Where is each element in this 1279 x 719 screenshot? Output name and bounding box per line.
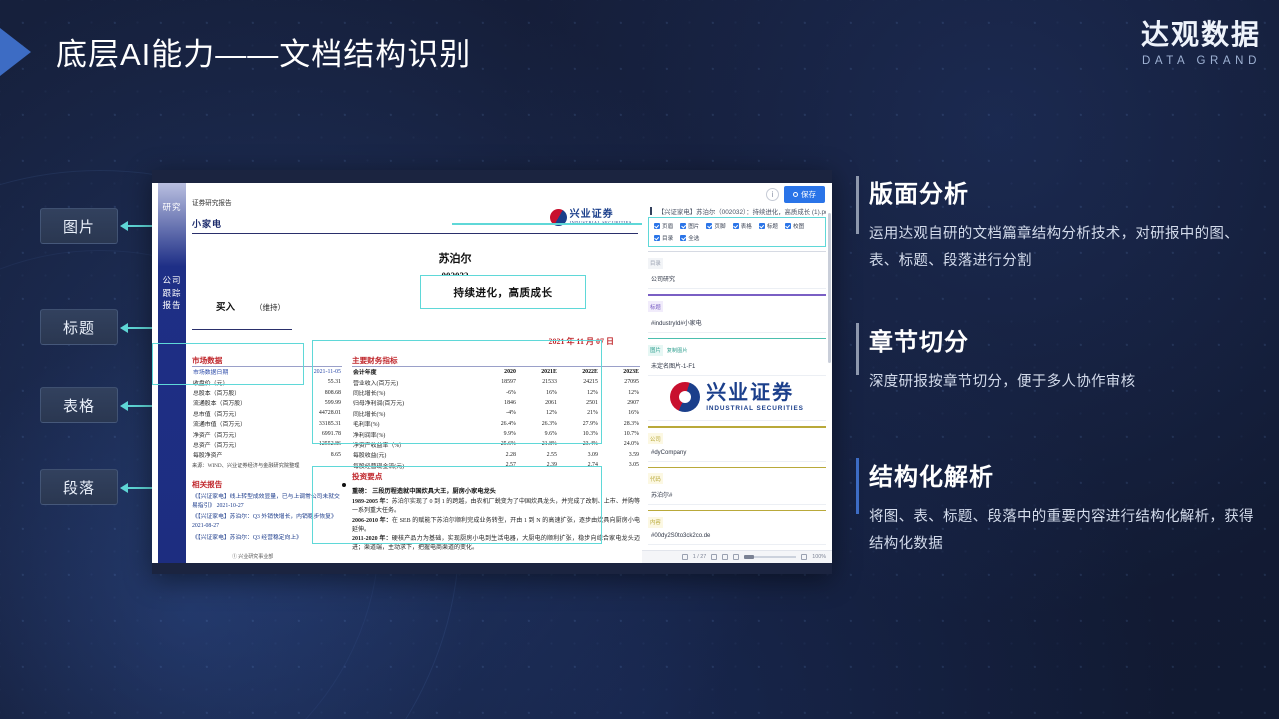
pdf-page-body: 证券研究报告 小家电 苏泊尔 002032 买入 （维持） 2021 年 11 … (192, 183, 638, 563)
feature-bar-2 (856, 323, 859, 375)
rotate-icon[interactable] (711, 554, 717, 560)
table-row: 总市值（百万元）44728.01 (192, 408, 342, 418)
cell-value: 12552.86 (290, 439, 342, 449)
section-label: 公司 (648, 433, 663, 444)
cell-value: 12% (517, 408, 558, 418)
filter-checkbox-label: 目录 (662, 234, 673, 242)
zoom-level-label: 100% (812, 554, 826, 560)
cell-value: 8.65 (290, 450, 342, 460)
product-screenshot: 研究 公司跟踪报告 证券研究报告 小家电 苏泊尔 002032 买入 （维持） … (152, 170, 832, 574)
callout-tag-image: 图片 (40, 208, 118, 244)
cell-label: 营业收入(百万元) (352, 377, 477, 387)
save-button-label: 保存 (801, 189, 816, 200)
pdf-report-type: 证券研究报告 (192, 197, 638, 207)
market-data-title: 市场数据 (192, 355, 342, 366)
table-row: 每股净资产8.65 (192, 450, 342, 460)
section-label: 标题 (648, 301, 663, 312)
section-value: #dyCompany (648, 446, 826, 462)
feature-desc-1: 运用达观自研的文档篇章结构分析技术，对研报中的图、表、标题、段落进行分割 (869, 221, 1259, 275)
cell-value: 3.05 (599, 460, 640, 470)
feature-bar-3 (856, 458, 859, 514)
pdf-divider-1 (192, 233, 638, 234)
table-row: 同比增长(%)-4%12%21%16% (352, 408, 640, 418)
table-row: 净资产（百万元）6991.78 (192, 429, 342, 439)
investment-lead: 重磅： 三段历程造就中国炊具大王，厨房小家电龙头 (352, 486, 640, 495)
checkbox-icon (680, 235, 686, 241)
structure-result-list: 目录公司研究标题#industryId#小家电图片复制图片未定名图片-1-F1兴… (648, 251, 826, 549)
filter-checkbox[interactable]: 图片 (680, 222, 699, 230)
paragraph-year-range: 2011-2020 年： (352, 536, 392, 542)
table-row: 同比增长(%)-6%16%12%12% (352, 387, 640, 397)
related-reports-block: 相关报告 《【兴证家电】线上转型成效显量，已与上调常公司未就交易指引》 2021… (192, 479, 342, 545)
pdf-rating-note: （维持） (255, 302, 285, 313)
paragraph-year-range: 1989-2005 年： (352, 499, 392, 505)
investment-bullet-icon (342, 483, 346, 487)
cell-value: 26.3% (517, 418, 558, 428)
cell-value: 44728.01 (290, 408, 342, 418)
cell-value: 2021-11-05 (290, 367, 342, 377)
section-value: 公司研究 (648, 270, 826, 289)
result-section[interactable]: 内容#00dy2S0to3ck2co.de (648, 510, 826, 545)
list-item: 《【兴证家电】线上转型成效显量，已与上调常公司未就交易指引》 2021-10-2… (192, 493, 342, 510)
cell-value: 10.7% (599, 429, 640, 439)
cell-value: 12% (599, 387, 640, 397)
cell-value: -6% (477, 387, 517, 397)
pdf-rail-top-label: 研究 (158, 201, 186, 214)
app-bottom-toolbar: 1 / 27 100% (642, 550, 832, 563)
brand-logo: 达观数据 DATA GRAND (1141, 20, 1261, 67)
cell-label: 每股经营现金流(元) (352, 460, 477, 470)
checkbox-icon (785, 223, 791, 229)
column-header: 2020 (477, 367, 517, 377)
related-reports-title: 相关报告 (192, 479, 342, 490)
cell-label: 净资产（百万元） (192, 429, 290, 439)
table-row: 营业收入(百万元)18597215332421527095 (352, 377, 640, 387)
cell-label: 总市值（百万元） (192, 408, 290, 418)
table-row: 收盘价（元）55.31 (192, 377, 342, 387)
section-value: #00dy2S0to3ck2co.de (648, 529, 826, 545)
financial-table: 会计年度20202021E2022E2023E 营业收入(百万元)1859721… (352, 367, 640, 471)
cell-value: 3.09 (558, 450, 599, 460)
refresh-icon (793, 192, 798, 197)
cell-label: 总股本（百万股） (192, 387, 290, 397)
investment-paragraph: 2011-2020 年：硬核产品力为基础，实现厨房小电到生活电器，大厨电的顺利扩… (352, 535, 640, 554)
cell-value: 2.57 (477, 460, 517, 470)
market-data-block: 市场数据 市场数据日期2021-11-05收盘价（元）55.31总股本（百万股）… (192, 355, 342, 469)
page-header: 底层AI能力——文档结构识别 达观数据 DATA GRAND (0, 0, 1279, 108)
pdf-brand-logo: 兴业证券 INDUSTRIAL SECURITIES (550, 209, 632, 226)
cell-label: 收盘价（元） (192, 377, 290, 387)
cell-value: 24215 (558, 377, 599, 387)
cell-value: 2.55 (517, 450, 558, 460)
filter-checkbox-label: 标题 (767, 222, 778, 230)
table-row: 每股收益(元)2.282.553.093.59 (352, 450, 640, 460)
cell-value: 10.3% (558, 429, 599, 439)
section-label: 内容 (648, 517, 663, 528)
triangle-icon (0, 28, 31, 76)
filter-checkbox[interactable]: 目录 (654, 234, 673, 242)
callout-tag-paragraph: 段落 (40, 469, 118, 505)
pdf-brand-cn: 兴业证券 (570, 210, 632, 220)
cell-value: 25.6% (477, 439, 517, 449)
extracted-image-preview: 兴业证券INDUSTRIAL SECURITIES (648, 376, 826, 421)
investment-title: 投资要点 (352, 471, 640, 482)
callout-tag-image-label: 图片 (63, 216, 95, 237)
connector-paragraph-arrow (120, 483, 128, 493)
checkbox-icon (706, 223, 712, 229)
file-name-text: 【兴证家电】苏泊尔（002032）：持续进化，高质成长 (1).pdf (658, 209, 826, 216)
cell-label: 同比增长(%) (352, 408, 477, 418)
cell-label: 归母净利润(百万元) (352, 398, 477, 408)
zoom-out-icon[interactable] (733, 554, 739, 560)
extracted-brand-en: INDUSTRIAL SECURITIES (706, 405, 804, 412)
table-row: 毛利率(%)26.4%26.3%27.9%28.3% (352, 418, 640, 428)
cell-label: 净资产收益率（%） (352, 439, 477, 449)
callout-tag-heading: 标题 (40, 309, 118, 345)
section-label: 目录 (648, 258, 663, 269)
pdf-side-rail: 研究 公司跟踪报告 (158, 183, 186, 563)
cell-value: 3.59 (599, 450, 640, 460)
cell-value: 1846 (477, 398, 517, 408)
pdf-stock-name: 苏泊尔 (272, 250, 638, 266)
cell-value: 9.9% (477, 429, 517, 439)
section-value: 苏泊尔# (648, 486, 826, 505)
feature-block-chapter-split: 章节切分 深度研报按章节切分，便于多人协作审核 (869, 322, 1259, 396)
cell-value: 27.9% (558, 418, 599, 428)
filter-checkbox-label: 页脚 (714, 222, 725, 230)
cell-label: 每股收益(元) (352, 450, 477, 460)
pdf-footer: ① 兴业研究事业部 (232, 553, 273, 560)
filter-checkbox-label: 表格 (741, 222, 752, 230)
fit-page-icon[interactable] (682, 554, 688, 560)
logo-text-en: DATA GRAND (1141, 55, 1261, 67)
pdf-rail-bottom-label: 公司跟踪报告 (158, 274, 186, 312)
screenshot-bottom-bar (152, 563, 832, 574)
feature-title-1: 版面分析 (869, 174, 1259, 209)
extracted-brand-cn: 兴业证券 (706, 383, 804, 403)
result-section[interactable]: 目录公司研究 (648, 251, 826, 289)
cell-value: 16% (517, 387, 558, 397)
column-header: 2021E (517, 367, 558, 377)
table-row: 总股本（百万股）808.68 (192, 387, 342, 397)
callout-tag-table-label: 表格 (63, 395, 95, 416)
cell-value: 12% (558, 387, 599, 397)
app-panel: i 保存 【兴证家电】苏泊尔（002032）：持续进化，高质成长 (1).pdf… (642, 183, 832, 563)
cell-value: 2501 (558, 398, 599, 408)
filter-checkbox[interactable]: 全选 (680, 234, 699, 242)
filter-checkbox-label: 图片 (688, 222, 699, 230)
filter-checkbox-label: 全选 (688, 234, 699, 242)
pdf-viewer: 研究 公司跟踪报告 证券研究报告 小家电 苏泊尔 002032 买入 （维持） … (152, 183, 642, 563)
table-row: 净利润率(%)9.9%9.6%10.3%10.7% (352, 429, 640, 439)
pdf-slogan-text: 持续进化，高质成长 (454, 285, 553, 300)
info-icon[interactable]: i (766, 188, 779, 201)
copy-image-button[interactable]: 复制图片 (667, 348, 688, 354)
cell-label: 流通市值（百万元） (192, 418, 290, 428)
checkbox-icon (759, 223, 765, 229)
checkbox-icon (733, 223, 739, 229)
screenshot-top-bar (152, 170, 832, 183)
cell-label: 毛利率(%) (352, 418, 477, 428)
cell-value: 9.6% (517, 429, 558, 439)
investment-points-block: 投资要点 重磅： 三段历程造就中国炊具大王，厨房小家电龙头 1989-2005 … (352, 471, 640, 554)
pdf-divider-2 (192, 329, 292, 330)
section-label: 图片 (648, 345, 663, 356)
table-row: 每股经营现金流(元)2.572.392.743.05 (352, 460, 640, 470)
market-data-source: 来源：WIND、兴业证券经济与金融研究院整理 (192, 462, 342, 469)
cell-value: 33185.31 (290, 418, 342, 428)
brand-mark-icon (550, 209, 567, 226)
cell-value: 2907 (599, 398, 640, 408)
table-row: 净资产收益率（%）25.6%21.8%23.4%24.0% (352, 439, 640, 449)
connector-table-arrow (120, 401, 128, 411)
cell-value: -4% (477, 408, 517, 418)
cell-value: 808.68 (290, 387, 342, 397)
cell-value: 16% (599, 408, 640, 418)
connector-image-arrow (120, 221, 128, 231)
cell-value: 2061 (517, 398, 558, 408)
investment-paragraph: 1989-2005 年：苏泊尔实现了 0 到 1 的跨越，由农机厂蜕变为了中国炊… (352, 498, 640, 517)
feature-desc-3: 将图、表、标题、段落中的重要内容进行结构化解析，获得结构化数据 (869, 504, 1259, 558)
filter-checkbox[interactable]: 表格 (733, 222, 752, 230)
cell-value: 27095 (599, 377, 640, 387)
financial-table-block: 主要财务指标 会计年度20202021E2022E2023E 营业收入(百万元)… (352, 355, 640, 470)
callout-tag-paragraph-label: 段落 (63, 477, 95, 498)
section-value: 未定名图片-1-F1 (648, 357, 826, 376)
filter-checkbox-label: 校图 (793, 222, 804, 230)
file-name-bar: 【兴证家电】苏泊尔（002032）：持续进化，高质成长 (1).pdf (650, 207, 826, 216)
zoom-in-icon[interactable] (801, 554, 807, 560)
table-row: 归母净利润(百万元)1846206125012907 (352, 398, 640, 408)
cell-label: 每股净资产 (192, 450, 290, 460)
column-header: 2022E (558, 367, 599, 377)
cell-value: 24.0% (599, 439, 640, 449)
list-item: 《【兴证家电】苏泊尔：Q3 外销快增长，内销稳步恢复》 2021-08-27 (192, 513, 342, 530)
market-data-table: 市场数据日期2021-11-05收盘价（元）55.31总股本（百万股）808.6… (192, 367, 342, 460)
financial-table-title: 主要财务指标 (352, 355, 640, 366)
filter-checkbox[interactable]: 标题 (759, 222, 778, 230)
result-section[interactable]: 代码苏泊尔# (648, 467, 826, 505)
cell-value: 26.4% (477, 418, 517, 428)
fullscreen-icon[interactable] (722, 554, 728, 560)
checkbox-icon (654, 223, 660, 229)
table-row: 流通股本（百万股）599.99 (192, 398, 342, 408)
filter-checkbox[interactable]: 校图 (785, 222, 804, 230)
feature-desc-2: 深度研报按章节切分，便于多人协作审核 (869, 369, 1259, 396)
cell-label: 市场数据日期 (192, 367, 290, 377)
filter-checkbox[interactable]: 页眉 (654, 222, 673, 230)
table-header-row: 会计年度20202021E2022E2023E (352, 367, 640, 377)
cell-label: 总资产（百万元） (192, 439, 290, 449)
column-header: 会计年度 (352, 367, 477, 377)
checkbox-icon (654, 235, 660, 241)
column-header: 2023E (599, 367, 640, 377)
cell-label: 净利润率(%) (352, 429, 477, 439)
feature-title-3: 结构化解析 (869, 457, 1259, 492)
callout-tag-table: 表格 (40, 387, 118, 423)
page-indicator: 1 / 27 (693, 554, 707, 560)
cell-value: 18597 (477, 377, 517, 387)
feature-title-2: 章节切分 (869, 322, 1259, 357)
checkbox-icon (680, 223, 686, 229)
cell-label: 同比增长(%) (352, 387, 477, 397)
cell-value: 55.31 (290, 377, 342, 387)
zoom-slider[interactable] (744, 556, 796, 558)
page-title: 底层AI能力——文档结构识别 (56, 29, 471, 74)
pdf-slogan-box: 持续进化，高质成长 (420, 275, 586, 309)
table-row: 流通市值（百万元）33185.31 (192, 418, 342, 428)
cell-label: 流通股本（百万股） (192, 398, 290, 408)
filter-checkbox-group: 页眉图片页脚表格标题校图目录全选 (648, 217, 826, 247)
pdf-date: 2021 年 11 月 07 日 (192, 336, 638, 347)
feature-block-structured-parsing: 结构化解析 将图、表、标题、段落中的重要内容进行结构化解析，获得结构化数据 (869, 457, 1259, 558)
securities-logo-icon (670, 382, 700, 412)
callout-tag-heading-label: 标题 (63, 317, 95, 338)
section-value: #industryId#小家电 (648, 314, 826, 333)
cell-value: 28.3% (599, 418, 640, 428)
feature-block-layout-analysis: 版面分析 运用达观自研的文档篇章结构分析技术，对研报中的图、表、标题、段落进行分… (869, 174, 1259, 275)
cell-value: 6991.78 (290, 429, 342, 439)
cell-value: 2.74 (558, 460, 599, 470)
app-toolbar: i 保存 (642, 183, 832, 205)
result-section[interactable]: 标题#industryId#小家电 (648, 294, 826, 332)
pdf-brand-en: INDUSTRIAL SECURITIES (570, 220, 632, 225)
cell-value: 2.39 (517, 460, 558, 470)
table-row: 市场数据日期2021-11-05 (192, 367, 342, 377)
result-section[interactable]: 图片复制图片未定名图片-1-F1兴业证券INDUSTRIAL SECURITIE… (648, 338, 826, 421)
cell-value: 23.4% (558, 439, 599, 449)
app-scrollbar[interactable] (828, 213, 831, 363)
filter-checkbox[interactable]: 页脚 (706, 222, 725, 230)
connector-heading-arrow (120, 323, 128, 333)
table-row: 总资产（百万元）12552.86 (192, 439, 342, 449)
cell-value: 2.28 (477, 450, 517, 460)
cell-value: 21533 (517, 377, 558, 387)
section-label: 代码 (648, 473, 663, 484)
logo-text-cn: 达观数据 (1141, 20, 1261, 51)
pdf-rating: 买入 (216, 299, 235, 313)
cell-value: 21% (558, 408, 599, 418)
paragraph-year-range: 2006-2010 年： (352, 518, 392, 524)
cell-value: 599.99 (290, 398, 342, 408)
cell-value: 21.8% (517, 439, 558, 449)
investment-paragraph: 2006-2010 年：在 SEB 的赋能下苏泊尔顺利完成业务转型，开由 1 到… (352, 517, 640, 536)
file-marker-icon (650, 207, 652, 215)
feature-bar-1 (856, 176, 859, 234)
save-button[interactable]: 保存 (784, 186, 825, 203)
filter-checkbox-label: 页眉 (662, 222, 673, 230)
list-item: 《【兴证家电】苏泊尔：Q3 经营稳定向上》 (192, 534, 342, 543)
result-section[interactable]: 公司#dyCompany (648, 426, 826, 461)
